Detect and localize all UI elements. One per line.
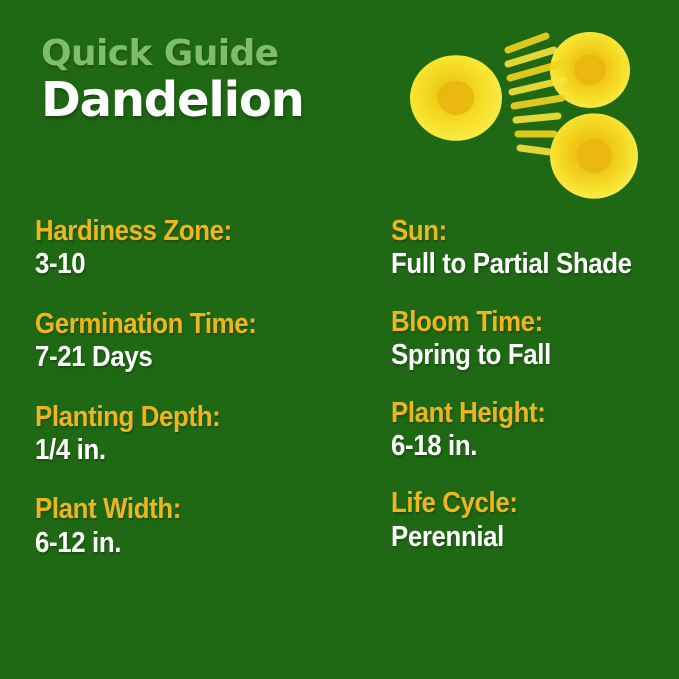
fact-item: Plant Height: 6-18 in.: [391, 398, 671, 463]
fact-label: Hardiness Zone:: [35, 216, 338, 247]
fact-label: Bloom Time:: [391, 307, 640, 338]
fact-item: Hardiness Zone: 3-10: [35, 216, 375, 281]
fact-value: 6-18 in.: [391, 430, 640, 462]
fact-label: Life Cycle:: [391, 488, 640, 519]
fact-value: Full to Partial Shade: [391, 248, 640, 280]
fact-item: Planting Depth: 1/4 in.: [35, 402, 375, 467]
fact-value: 1/4 in.: [35, 434, 338, 466]
guide-kicker: Quick Guide: [41, 36, 371, 72]
quick-guide-card: Quick Guide Dandelion: [0, 0, 679, 679]
fact-label: Plant Height:: [391, 398, 640, 429]
dandelion-flowers-image: [358, 6, 676, 232]
fact-label: Sun:: [391, 216, 640, 247]
fact-item: Germination Time: 7-21 Days: [35, 309, 375, 374]
fact-label: Germination Time:: [35, 309, 338, 340]
fact-label: Plant Width:: [35, 494, 338, 525]
title-block: Quick Guide Dandelion: [41, 36, 371, 124]
fact-item: Plant Width: 6-12 in.: [35, 494, 375, 559]
fact-item: Bloom Time: Spring to Fall: [391, 307, 671, 372]
fact-value: 3-10: [35, 248, 338, 280]
fact-item: Sun: Full to Partial Shade: [391, 216, 671, 281]
page-title: Dandelion: [41, 76, 371, 124]
fact-value: 7-21 Days: [35, 341, 338, 373]
fact-value: Perennial: [391, 521, 640, 553]
facts-column-right: Sun: Full to Partial Shade Bloom Time: S…: [391, 216, 671, 579]
fact-label: Planting Depth:: [35, 402, 338, 433]
fact-value: 6-12 in.: [35, 527, 338, 559]
fact-item: Life Cycle: Perennial: [391, 488, 671, 553]
facts-column-left: Hardiness Zone: 3-10 Germination Time: 7…: [35, 216, 375, 559]
fact-value: Spring to Fall: [391, 339, 640, 371]
